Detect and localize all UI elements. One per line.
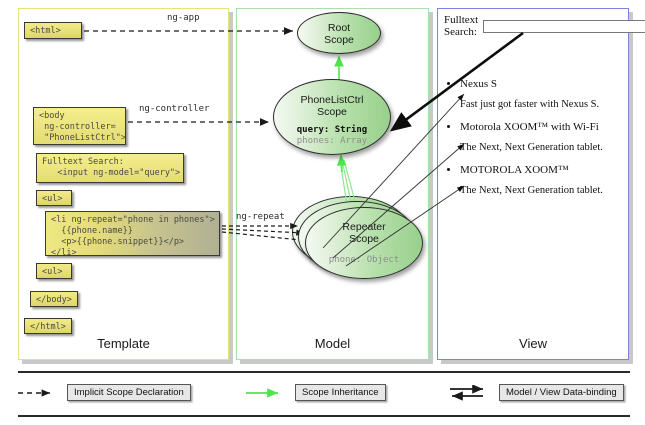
template-box-body-open: <body ng-controller= "PhoneListCtrl"> xyxy=(33,107,126,145)
view-search-label: Fulltext Search: xyxy=(444,14,478,38)
connector-label-ng-controller: ng-controller xyxy=(139,104,209,114)
template-box-html-close: </html> xyxy=(24,318,72,334)
connector-label-ng-app: ng-app xyxy=(167,13,200,23)
phone-snippet: The Next, Next Generation tablet. xyxy=(460,184,624,197)
scope-repeater-title-line2: Scope xyxy=(349,233,379,245)
legend-item-model-view-data-binding: Model / View Data-binding xyxy=(450,384,624,401)
search-input[interactable] xyxy=(483,20,645,33)
scope-repeater-title: Repeater Scope xyxy=(306,221,422,245)
view-search-row: Fulltext Search: xyxy=(444,14,624,38)
green-arrow-icon xyxy=(246,387,288,399)
scope-repeater-props: phone: Object xyxy=(306,255,422,266)
panel-label-view: View xyxy=(438,336,628,351)
legend-rule-bottom xyxy=(18,415,630,417)
double-arrow-icon xyxy=(450,385,492,401)
legend-label: Model / View Data-binding xyxy=(499,384,624,401)
angularjs-architecture-diagram: Template Model View xyxy=(0,0,645,425)
connector-label-ng-repeat: ng-repeat xyxy=(236,212,285,222)
template-box-ul-open: <ul> xyxy=(36,190,72,206)
template-box-ul-close: <ul> xyxy=(36,263,72,279)
template-box-html-open: <html> xyxy=(24,22,82,39)
dashed-arrow-icon xyxy=(18,387,60,399)
phone-name: Motorola XOOM™ with Wi-Fi xyxy=(460,121,599,133)
scope-root: Root Scope xyxy=(297,12,381,54)
legend-label: Scope Inheritance xyxy=(295,384,386,401)
phone-snippet: The Next, Next Generation tablet. xyxy=(460,141,624,154)
legend-rule-top xyxy=(18,371,630,373)
view-phone-list: Nexus S Fast just got faster with Nexus … xyxy=(444,78,624,197)
scope-prop-query: query: String xyxy=(274,125,390,136)
template-box-search-input: Fulltext Search: <input ng-model="query"… xyxy=(36,153,184,183)
legend-item-implicit-scope-declaration: Implicit Scope Declaration xyxy=(18,384,191,401)
scope-prop-phones: phones: Array xyxy=(274,136,390,147)
list-item[interactable]: Motorola XOOM™ with Wi-Fi The Next, Next… xyxy=(460,121,624,154)
template-box-li-repeat: <li ng-repeat="phone in phones"> {{phone… xyxy=(45,211,220,256)
list-item[interactable]: Nexus S Fast just got faster with Nexus … xyxy=(460,78,624,111)
list-item[interactable]: MOTOROLA XOOM™ The Next, Next Generation… xyxy=(460,164,624,197)
panel-label-template: Template xyxy=(19,336,228,351)
phone-name: Nexus S xyxy=(460,78,497,90)
legend-label: Implicit Scope Declaration xyxy=(67,384,191,401)
phone-name: MOTOROLA XOOM™ xyxy=(460,164,569,176)
template-box-body-close: </body> xyxy=(30,291,78,307)
legend: Implicit Scope Declaration Scope Inherit… xyxy=(18,371,630,417)
scope-repeater-title-line1: Repeater xyxy=(342,221,385,233)
scope-phonelistctrl: PhoneListCtrl Scope query: String phones… xyxy=(273,79,391,155)
panel-template: Template xyxy=(18,8,229,360)
scope-phonelistctrl-title-line2: Scope xyxy=(317,106,347,118)
view-rendered-page: Fulltext Search: Nexus S Fast just got f… xyxy=(444,14,624,207)
scope-root-title-line2: Scope xyxy=(324,34,354,46)
scope-repeater: Repeater Scope phone: Object xyxy=(305,207,423,279)
scope-root-title: Root Scope xyxy=(298,22,380,46)
phone-snippet: Fast just got faster with Nexus S. xyxy=(460,98,624,111)
scope-prop-phone: phone: Object xyxy=(306,255,422,266)
scope-phonelistctrl-title: PhoneListCtrl Scope xyxy=(274,94,390,118)
legend-item-scope-inheritance: Scope Inheritance xyxy=(246,384,386,401)
scope-root-title-line1: Root xyxy=(328,22,350,34)
scope-phonelistctrl-title-line1: PhoneListCtrl xyxy=(300,94,363,106)
scope-phonelistctrl-props: query: String phones: Array xyxy=(274,125,390,147)
panel-model: Model xyxy=(236,8,429,360)
panel-label-model: Model xyxy=(237,336,428,351)
